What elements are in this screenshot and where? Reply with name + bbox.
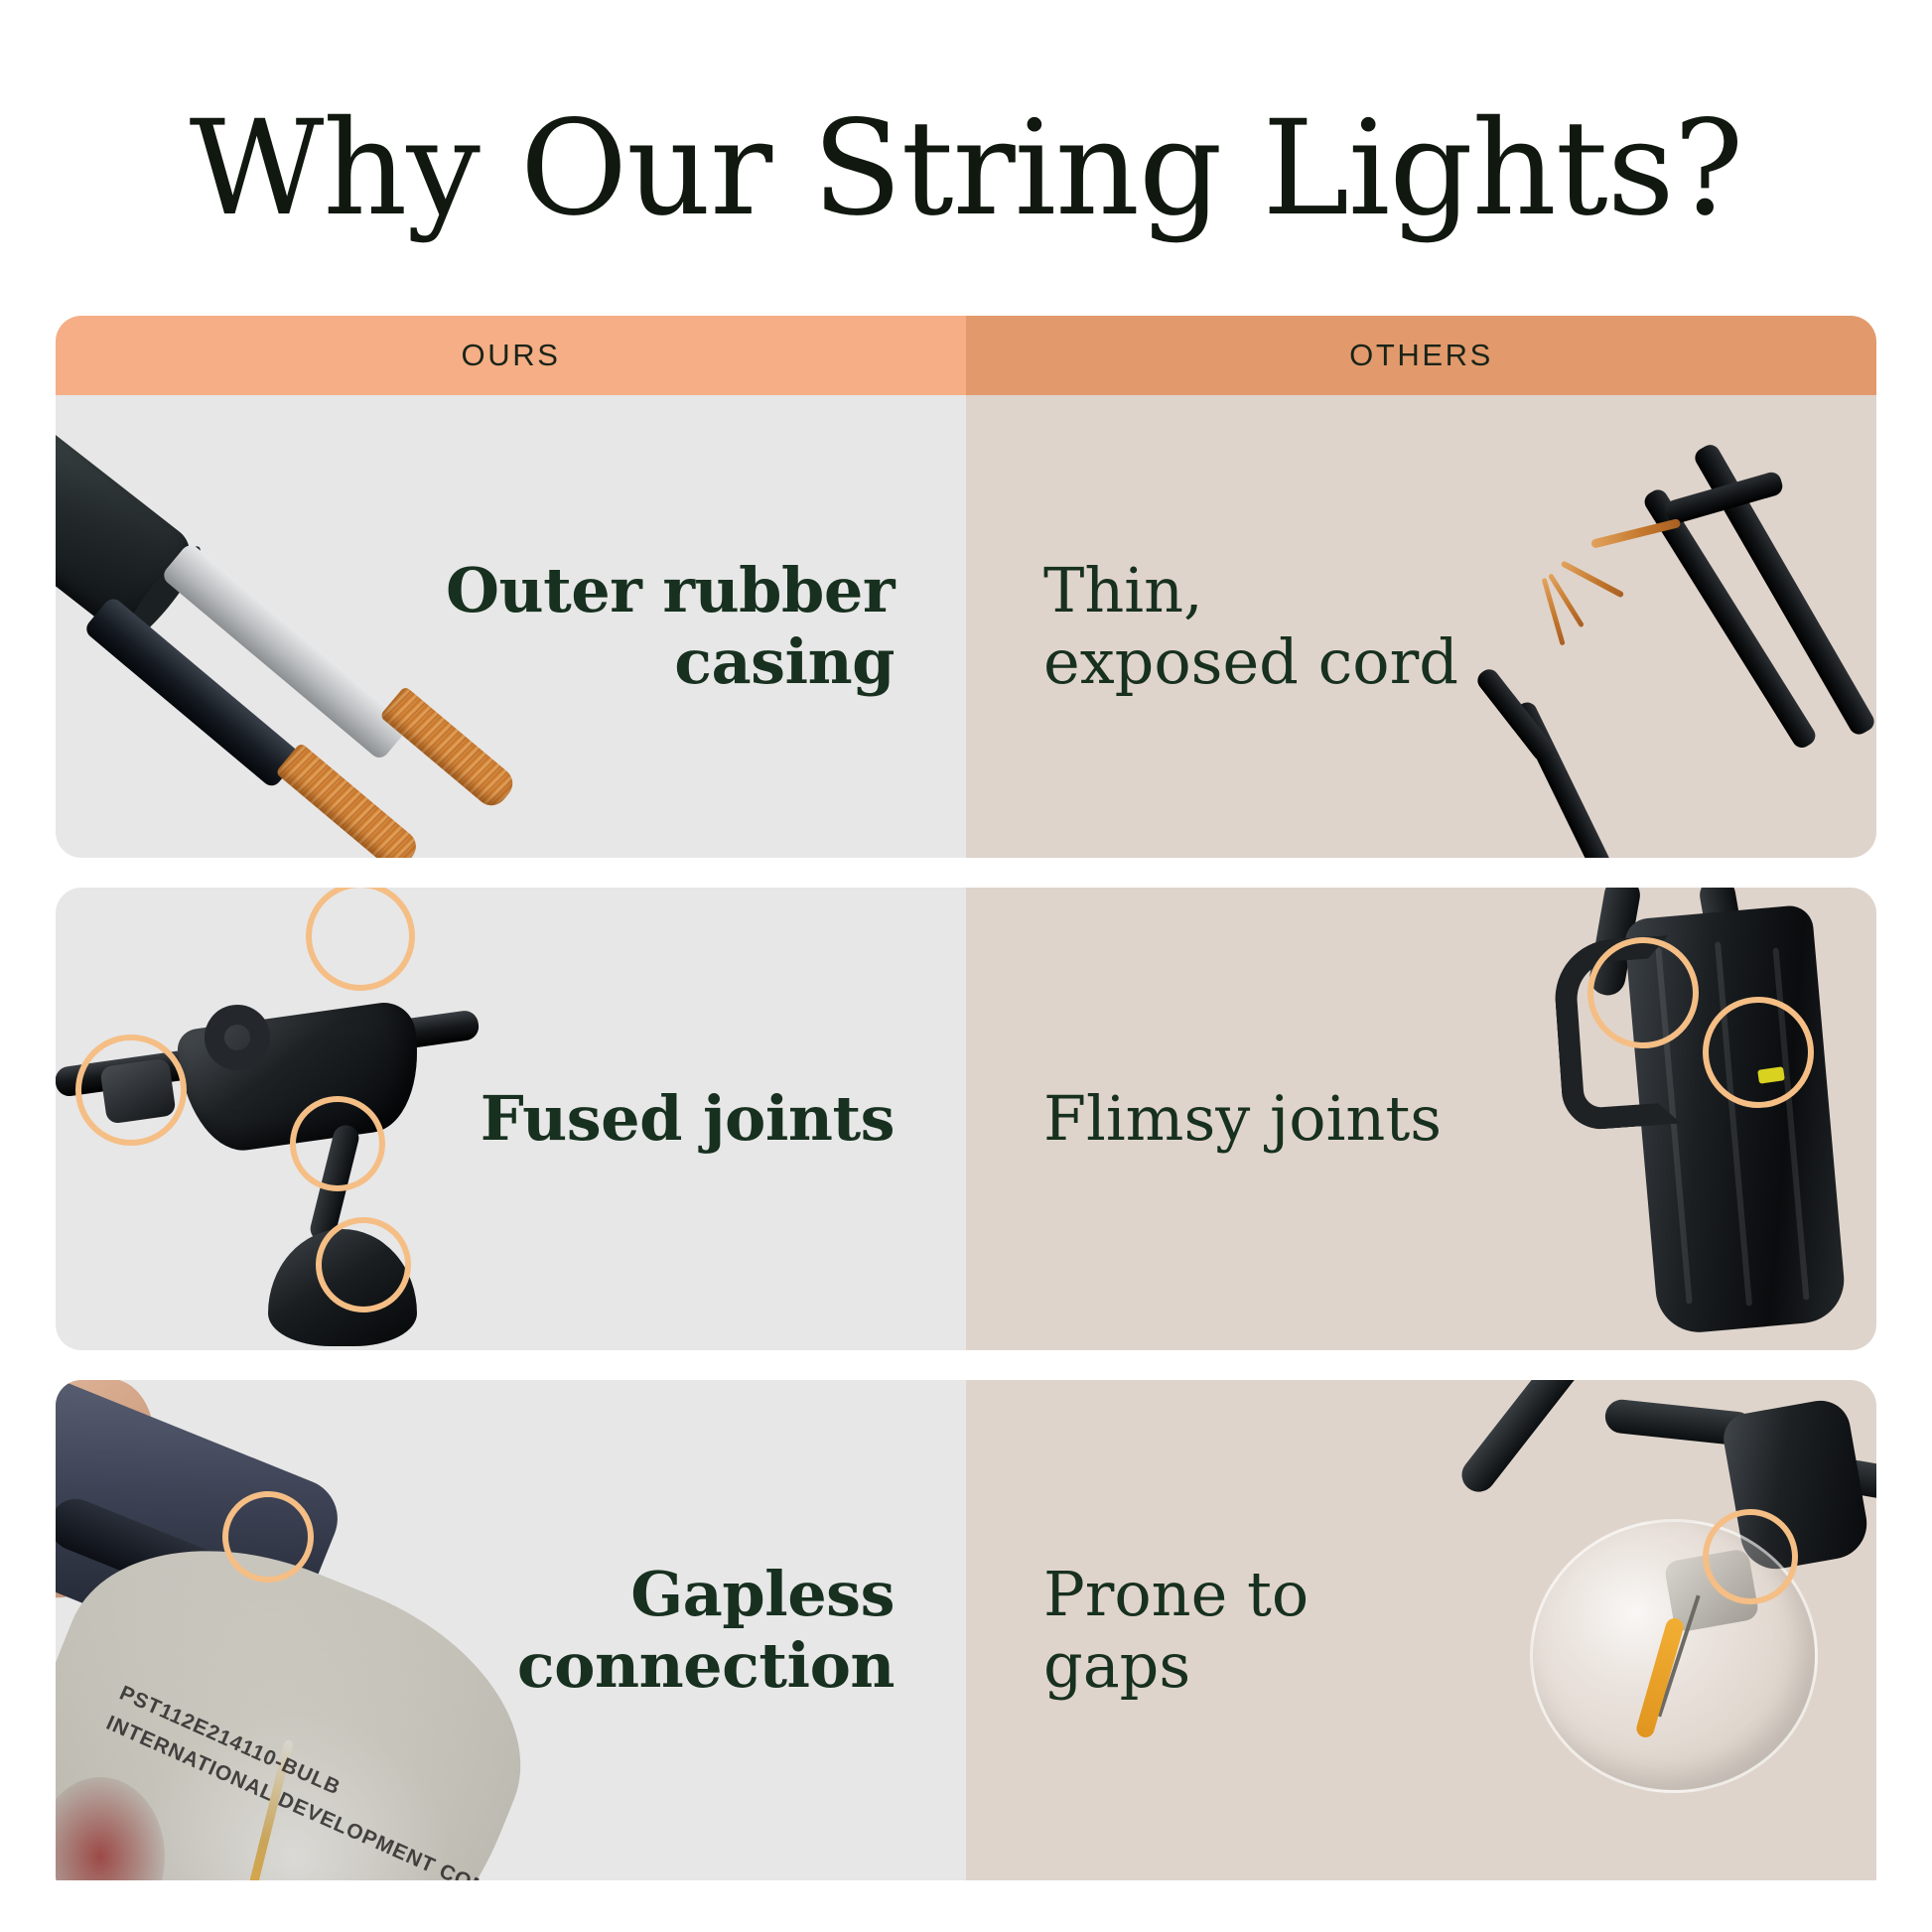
highlight-ring-3 [290, 1096, 385, 1191]
comparison-table: OURS OTHERS Outer rubber casing [56, 316, 1876, 1880]
row3-label-ours: Gapless connection [517, 1559, 895, 1702]
header-label-ours: OURS [462, 338, 561, 373]
table-row: PST112E214110-BULB INTERNATIONAL DEVELOP… [56, 1380, 1876, 1880]
thin-cord-lower-end [1473, 665, 1558, 764]
row2-label-ours: Fused joints [481, 1083, 895, 1155]
copper-strands-frayed-d [1542, 578, 1566, 646]
highlight-ring-2 [1703, 997, 1814, 1108]
highlight-ring-2 [75, 1035, 187, 1146]
row2-label-others: Flimsy joints [1043, 1083, 1442, 1155]
row3-cell-others: Prone to gaps [966, 1380, 1876, 1880]
inner-wire-grey [160, 541, 410, 761]
row3-cell-ours: PST112E214110-BULB INTERNATIONAL DEVELOP… [56, 1380, 966, 1880]
header-cell-ours: OURS [56, 316, 966, 395]
row3-label-others: Prone to gaps [1043, 1559, 1309, 1702]
highlight-ring-1 [306, 888, 415, 991]
header-label-others: OTHERS [1349, 338, 1493, 373]
copper-strands-a [275, 743, 422, 858]
row1-cell-others: Thin, exposed cord [966, 395, 1876, 858]
copper-strands-b [379, 686, 519, 812]
row1-cell-ours: Outer rubber casing [56, 395, 966, 858]
page-title: Why Our String Lights? [0, 87, 1932, 251]
row1-label-ours: Outer rubber casing [446, 555, 895, 698]
table-row: Fused joints Fl [56, 888, 1876, 1350]
highlight-ring-4 [316, 1217, 411, 1312]
table-header-row: OURS OTHERS [56, 316, 1876, 395]
infographic-page: Why Our String Lights? OURS OTHERS O [0, 0, 1932, 1932]
row2-cell-others: Flimsy joints [966, 888, 1876, 1350]
globe-cord-left [1455, 1380, 1592, 1498]
row2-cell-ours: Fused joints [56, 888, 966, 1350]
highlight-ring-1 [1703, 1509, 1798, 1604]
header-cell-others: OTHERS [966, 316, 1876, 395]
row1-label-others: Thin, exposed cord [1043, 555, 1458, 698]
cable-outer-jacket [56, 407, 200, 641]
highlight-ring-1 [1587, 937, 1699, 1048]
highlight-ring-1 [222, 1491, 314, 1583]
table-row: Outer rubber casing Thin, exposed cord [56, 395, 1876, 858]
copper-strands-frayed-b [1561, 560, 1625, 598]
